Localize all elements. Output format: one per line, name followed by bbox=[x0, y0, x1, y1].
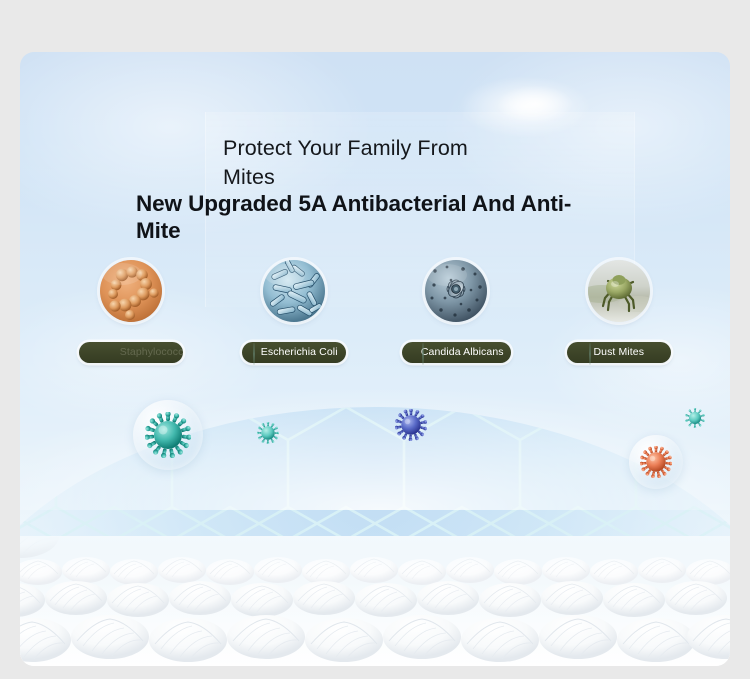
germ-badge: Escherichia Coli bbox=[242, 342, 346, 363]
germ-badge: Staphylococcus bbox=[79, 342, 183, 363]
quilt-top-fade bbox=[20, 536, 730, 570]
germ-label: Staphylococcus bbox=[120, 347, 183, 358]
germ-label: Escherichia Coli bbox=[261, 347, 338, 358]
germ-label: Candida Albicans bbox=[421, 347, 504, 358]
dust-mite-icon bbox=[588, 260, 650, 322]
candida-albicans-icon bbox=[425, 260, 487, 322]
hero-subheading: Protect Your Family From Mites bbox=[223, 134, 523, 192]
germ-divider bbox=[422, 343, 424, 365]
germ-badge: Dust Mites bbox=[567, 342, 671, 363]
promo-page: Protect Your Family From Mites New Upgra… bbox=[0, 0, 750, 679]
virus-blue-medium bbox=[395, 409, 427, 441]
virus-teal-small bbox=[257, 422, 279, 444]
virus-teal-tiny bbox=[685, 408, 705, 428]
hero-heading: New Upgraded 5A Antibacterial And Anti-M… bbox=[136, 190, 586, 244]
germ-item-staphylococcus[interactable]: Staphylococcus bbox=[50, 260, 213, 363]
virus-bubble-coral bbox=[629, 435, 683, 489]
promo-card: Protect Your Family From Mites New Upgra… bbox=[20, 52, 730, 666]
sphere-sheen bbox=[20, 390, 730, 510]
virus-bubble-teal-large bbox=[133, 400, 203, 470]
germ-item-escherichia-coli[interactable]: Escherichia Coli bbox=[213, 260, 376, 363]
germ-divider bbox=[589, 343, 591, 365]
germ-divider bbox=[253, 343, 255, 365]
germ-label: Dust Mites bbox=[593, 347, 644, 358]
quilted-mattress-surface bbox=[20, 536, 730, 666]
germ-item-candida-albicans[interactable]: Candida Albicans bbox=[375, 260, 538, 363]
cloud-wash bbox=[450, 72, 600, 142]
staphylococcus-icon bbox=[100, 260, 162, 322]
cloud-wash bbox=[490, 82, 580, 126]
germ-item-dust-mites[interactable]: Dust Mites bbox=[538, 260, 701, 363]
germ-badge: Candida Albicans bbox=[402, 342, 511, 363]
escherichia-coli-icon bbox=[263, 260, 325, 322]
germ-feature-row: Staphylococcus bbox=[50, 260, 700, 370]
